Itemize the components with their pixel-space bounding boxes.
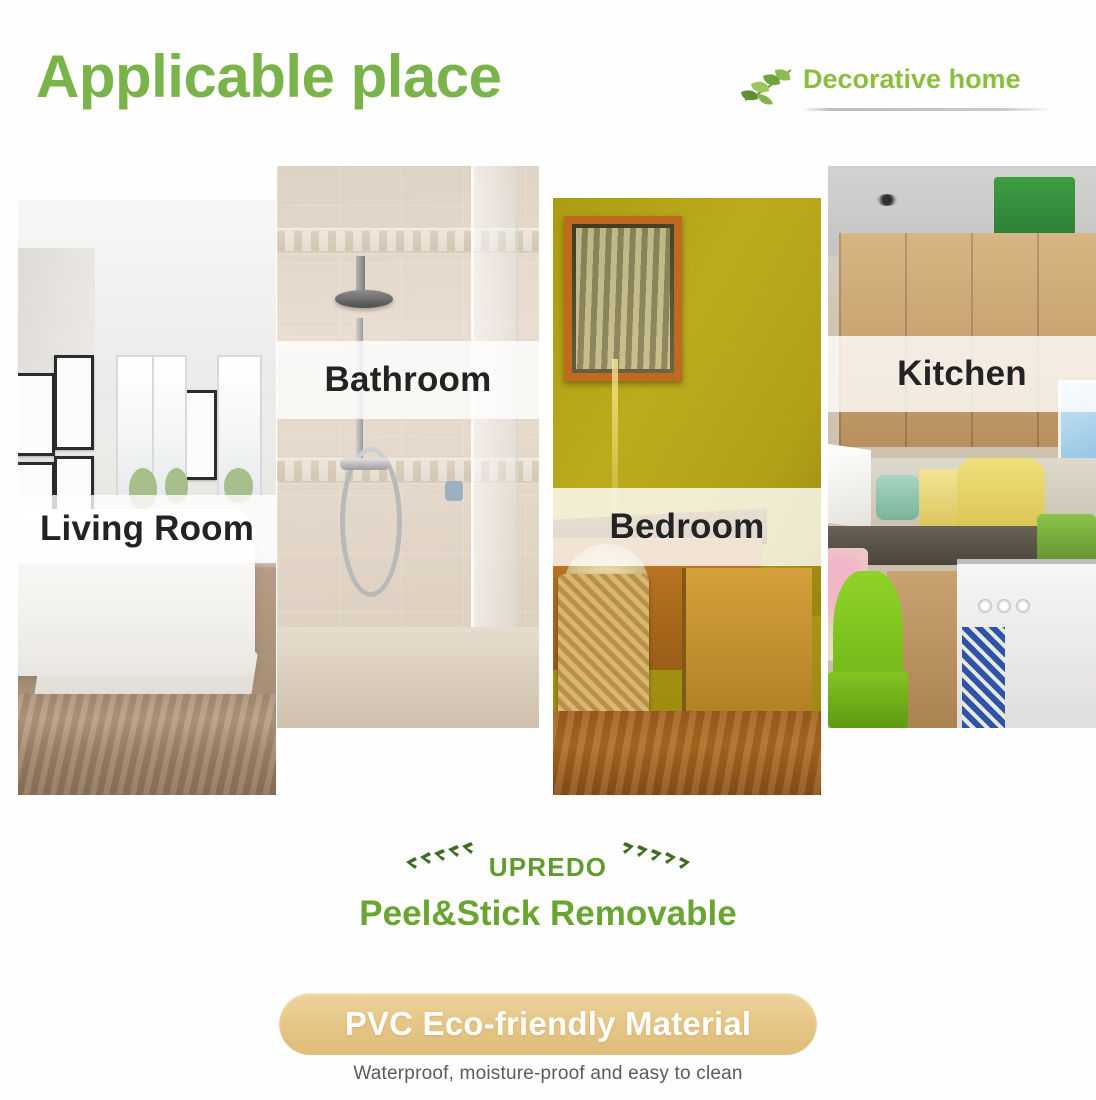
header: Applicable place Decorative home bbox=[0, 0, 1096, 150]
page-title: Applicable place bbox=[36, 42, 502, 111]
material-footnote: Waterproof, moisture-proof and easy to c… bbox=[0, 1063, 1096, 1085]
gallery-panel-kitchen[interactable]: Kitchen bbox=[828, 166, 1096, 728]
leaf-branch-icon bbox=[735, 64, 797, 110]
badge-label: Decorative home bbox=[803, 64, 1021, 95]
bathroom-photo bbox=[277, 166, 539, 728]
material-pill[interactable]: PVC Eco-friendly Material bbox=[279, 993, 817, 1055]
badge-underline bbox=[801, 108, 1053, 111]
gallery-panel-bathroom[interactable]: Bathroom bbox=[277, 166, 539, 728]
gallery-panel-living-room[interactable]: Living Room bbox=[18, 200, 276, 795]
brand-name: UPREDO bbox=[0, 852, 1096, 883]
brand-tagline: Peel&Stick Removable bbox=[0, 894, 1096, 934]
gallery: Living Room Bathroom bbox=[0, 150, 1096, 770]
panel-label-bedroom: Bedroom bbox=[553, 488, 821, 566]
gallery-panel-bedroom[interactable]: Bedroom bbox=[553, 198, 821, 795]
material-pill-label: PVC Eco-friendly Material bbox=[345, 1005, 752, 1043]
panel-label-living-room: Living Room bbox=[18, 495, 276, 563]
kitchen-photo bbox=[828, 166, 1096, 728]
panel-label-kitchen: Kitchen bbox=[828, 336, 1096, 412]
panel-label-bathroom: Bathroom bbox=[277, 341, 539, 419]
decorative-home-badge: Decorative home bbox=[735, 62, 1055, 124]
brand-block: UPREDO Peel&Stick Removable bbox=[0, 836, 1096, 956]
